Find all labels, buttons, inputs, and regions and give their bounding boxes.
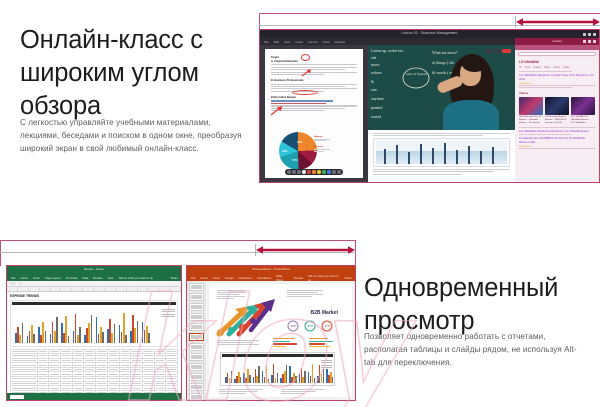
annotation-arrow-2: [270, 106, 283, 117]
chart-bar: [323, 369, 325, 383]
slide-hbar-group-left: [273, 338, 297, 349]
chart-bar: [258, 366, 260, 383]
maximize-icon[interactable]: [588, 33, 591, 36]
excel-sheet-tab[interactable]: [10, 395, 24, 399]
chalk-text: echoes: [371, 70, 382, 75]
close-icon[interactable]: [593, 33, 596, 36]
top-rule-vertical: [259, 13, 260, 29]
chart-bar: [137, 321, 139, 343]
legend-label-revenue: Revenue: [314, 146, 330, 148]
bottom-width-arrow: [256, 244, 355, 256]
page-body-bottom: Позволяет одновременно работать с отчета…: [364, 330, 579, 369]
slide-thumbnail-preview: [191, 325, 202, 329]
minimize-icon[interactable]: [583, 40, 586, 43]
document-heading-business: B. Business Professionals: [271, 79, 357, 82]
ppt-slide-canvas[interactable]: B2B Market 38% 45% 27%: [209, 284, 352, 397]
ppt-ribbon[interactable]: File Home Insert Design Transitions Anim…: [187, 274, 355, 281]
chart-bar: [148, 333, 150, 343]
result-line: [519, 85, 595, 86]
chalk-text-question: What are news?: [432, 50, 458, 55]
videos-section-label: Videos: [519, 91, 595, 95]
chart-bar: [277, 373, 279, 383]
legend-label-balance: Balance: [314, 136, 330, 138]
chart-header-strip: [222, 354, 333, 357]
ribbon-tab-animations[interactable]: Animations: [257, 276, 271, 280]
chart-bar: [45, 331, 47, 343]
ppt-workspace: B2B Market 38% 45% 27%: [187, 281, 355, 400]
chart-bar: [332, 377, 334, 383]
search-heading: LG UltraWide: [519, 60, 595, 64]
report-pane[interactable]: [368, 130, 515, 182]
column-header[interactable]: [148, 287, 159, 291]
result-line: [519, 87, 572, 88]
search-filters[interactable]: All Shop Images News Videos Maps: [519, 66, 595, 69]
document-pie-chart: 24% 23% 57% Balance Revenue: [271, 132, 329, 172]
annotation-circle-1: [301, 54, 310, 61]
doc-hyperlink-highlight[interactable]: [271, 103, 326, 104]
camera-icon[interactable]: [494, 49, 500, 53]
slide-thumbnail[interactable]: [189, 373, 204, 381]
color-swatch-red[interactable]: [307, 170, 310, 173]
report-chart-card: [373, 138, 510, 167]
chalk-text: more,: [371, 62, 380, 67]
filter-news[interactable]: News: [544, 66, 550, 69]
arrow-dot-orange: [217, 329, 224, 336]
bottom-rule-vertical-left: [0, 240, 1, 266]
browser-pane[interactable]: monitor LG UltraWide All Shop Images New…: [515, 38, 599, 182]
screenshot-excel[interactable]: Book1 – Excel File Home Insert Page Layo…: [6, 265, 182, 401]
result-line: [519, 127, 595, 128]
minimize-icon[interactable]: [583, 33, 586, 36]
chart-bar: [114, 324, 116, 342]
chart-bar: [304, 371, 306, 383]
chalk-circle-label: parts of Speech: [406, 72, 428, 76]
chalk-text: &: [371, 79, 374, 84]
annotation-circle-2: [292, 90, 318, 95]
slide-thumbnail-preview: [191, 315, 202, 319]
video-pane[interactable]: Listen up, woke-ers: ads more, echoes & …: [368, 45, 515, 130]
ppt-titlebar: Presentation1 – PowerPoint: [187, 266, 355, 274]
report-line: [373, 135, 483, 136]
doc-line: [271, 84, 357, 85]
screenshot-powerpoint[interactable]: Presentation1 – PowerPoint File Home Ins…: [186, 265, 356, 401]
slide-footer-right: [281, 389, 325, 395]
color-swatch-blue[interactable]: [327, 170, 330, 173]
page-title-bottom: Одновременный просмотр: [364, 272, 594, 338]
color-swatch-yellow[interactable]: [317, 170, 320, 173]
filter-images[interactable]: Images: [533, 66, 541, 69]
ppt-share-button[interactable]: Share: [345, 276, 352, 280]
chart-bar: [249, 375, 251, 383]
report-line: [373, 174, 462, 175]
excel-share-button[interactable]: Share: [171, 276, 178, 280]
top-rule-horizontal: [259, 13, 600, 14]
filter-maps[interactable]: Maps: [563, 66, 569, 69]
product-card[interactable]: The 34WN80C-B UltraWide Monitor – 21:9 U…: [571, 97, 595, 125]
bottom-rule-horizontal: [0, 240, 356, 241]
column-header[interactable]: [127, 287, 138, 291]
top-menubar[interactable]: File Edit View Insert Format Tools Windo…: [260, 38, 515, 45]
chalk-text: anytime: [371, 96, 384, 101]
ribbon-tab-transitions[interactable]: Transitions: [239, 276, 253, 280]
product-thumbnail[interactable]: [545, 97, 569, 115]
ribbon-tab-view[interactable]: View: [107, 276, 113, 280]
slide-thumbnail[interactable]: [189, 323, 204, 331]
slide-thumbnail[interactable]: [189, 303, 204, 311]
column-header[interactable]: [51, 287, 62, 291]
slide-text-block: [287, 290, 323, 298]
product-caption: The 34WN80C-B UltraWide Monitor – 21:9 U…: [571, 116, 595, 125]
ribbon-tab-design[interactable]: Design: [225, 276, 234, 280]
kpi-value-1: 38%: [289, 324, 298, 328]
document-heading-target: Target: [271, 56, 357, 59]
slide-thumbnail-preview: [191, 375, 202, 379]
tool-icon[interactable]: [297, 170, 300, 173]
slide-title: B2B Market: [310, 310, 338, 316]
report-line: [373, 133, 510, 134]
window-controls[interactable]: [583, 33, 596, 36]
chalk-text-a: a) things ( ids: [432, 60, 454, 65]
chart-bar: [68, 336, 70, 342]
name-box[interactable]: [10, 282, 16, 285]
promo-page: Онлайн-класс с широким углом обзора С ле…: [0, 0, 600, 407]
excel-titlebar: Book1 – Excel: [7, 266, 181, 274]
chart-legend: Balance Revenue: [314, 136, 330, 157]
doc-line: [271, 86, 345, 87]
ribbon-tab-data[interactable]: Data: [82, 276, 88, 280]
report-line: [373, 169, 510, 170]
filter-shop[interactable]: Shop: [525, 66, 531, 69]
product-thumbnail[interactable]: [571, 97, 595, 115]
column-header[interactable]: [7, 287, 18, 291]
bottom-rule-vertical-right: [355, 240, 356, 266]
pie-label-24: 24%: [297, 141, 302, 144]
ribbon-tab-review[interactable]: Review: [294, 276, 303, 280]
teacher-hair: [462, 56, 487, 72]
tool-icon[interactable]: [332, 170, 335, 173]
chart-bar: [231, 371, 233, 383]
browser-window-controls[interactable]: [583, 40, 596, 43]
color-swatch-orange[interactable]: [312, 170, 315, 173]
chart-bar: [22, 323, 24, 342]
ribbon-tab-insert[interactable]: Insert: [33, 276, 40, 280]
tool-icon[interactable]: [337, 170, 340, 173]
browser-address-bar[interactable]: [515, 50, 599, 57]
slide-thumbnail-preview: [191, 295, 202, 299]
chalk-text: printed: [371, 105, 382, 110]
slide-thumbnail[interactable]: [189, 313, 204, 321]
chalk-text: rate: [371, 87, 377, 92]
doc-hyperlink[interactable]: [271, 100, 333, 101]
end-call-button[interactable]: [502, 49, 511, 53]
column-header[interactable]: [18, 287, 29, 291]
color-swatch-white[interactable]: [302, 170, 305, 173]
chart-bar: [102, 332, 104, 342]
result-line: [519, 148, 595, 149]
ppt-slide-thumbnails[interactable]: [187, 281, 206, 400]
browser-content: LG UltraWide All Shop Images News Videos…: [515, 57, 599, 153]
document-color-toolbar[interactable]: [285, 169, 343, 175]
excel-expense-chart[interactable]: [10, 300, 178, 347]
menu-item-window[interactable]: Window: [335, 40, 346, 44]
chart-bar: [314, 378, 316, 383]
doc-line: [271, 105, 357, 106]
result-line: [519, 134, 572, 135]
ribbon-tab-home[interactable]: Home: [201, 276, 208, 280]
chart-legend: [162, 309, 175, 319]
product-caption: LG Ultrawide Monitor Review – 34WL500-B …: [545, 116, 569, 125]
chalk-circle: [402, 67, 430, 89]
top-window-titlebar: Lesson 01 · Business Management: [260, 30, 599, 38]
arrow-dot-teal: [228, 327, 235, 334]
ribbon-tab-review[interactable]: Review: [93, 276, 102, 280]
ribbon-tab-home[interactable]: Home: [21, 276, 28, 280]
doc-line: [271, 64, 357, 65]
ppt-embedded-chart[interactable]: [220, 352, 335, 386]
slide-thumbnail[interactable]: [189, 363, 204, 371]
chalk-text: ads: [371, 55, 376, 60]
search-input[interactable]: [518, 52, 596, 56]
document-heading-financial: A. Financial Elements: [271, 60, 357, 63]
column-header[interactable]: [105, 287, 116, 291]
slide-thumbnail-preview: [191, 395, 202, 399]
page-body-top: С легкостью управляйте учебными материал…: [20, 116, 248, 155]
excel-status-bar: [7, 393, 181, 400]
footer-result-1[interactable]: LG UltraWide Business Monitors | LG USA …: [519, 129, 595, 133]
slide-thumbnail[interactable]: [189, 283, 204, 291]
slide-thumbnail[interactable]: [189, 293, 204, 301]
legend-row: Balance: [314, 136, 330, 141]
chart-bar: [91, 315, 93, 342]
ribbon-tab-file[interactable]: File: [191, 276, 196, 280]
filter-videos[interactable]: Videos: [553, 66, 560, 69]
video-controls[interactable]: [486, 49, 511, 53]
arrow-dot-red: [239, 324, 246, 331]
doc-line: [271, 72, 357, 73]
chart-bar: [295, 376, 297, 383]
product-card[interactable]: LG Ultrawide Monitor Review – 34WL500-B …: [545, 97, 569, 125]
excel-sheet-heading: EXPENSE TRENDS: [10, 294, 178, 298]
menu-item-format[interactable]: Format: [308, 40, 318, 44]
document-heading-policy: Policy Index Review: [271, 96, 357, 99]
chart-bar: [56, 317, 58, 343]
excel-sheet[interactable]: EXPENSE TRENDS: [7, 292, 181, 393]
slide-thumbnail-preview: [191, 355, 202, 359]
excel-window-title: Book1 – Excel: [84, 267, 103, 271]
slide-thumbnail-preview: [191, 285, 202, 289]
column-header[interactable]: [116, 287, 127, 291]
menu-item-insert[interactable]: Insert: [295, 40, 303, 44]
pie-label-23: 23%: [282, 150, 287, 153]
kpi-value-3: 27%: [323, 324, 332, 328]
slide-thumbnail[interactable]: [189, 393, 204, 400]
teacher-body: [443, 100, 499, 130]
slide-thumbnail[interactable]: [189, 343, 204, 351]
footer-result-2[interactable]: LG Electronics 34UM88-P 34-Inch 21:9 Ult…: [519, 136, 595, 144]
maximize-icon[interactable]: [588, 40, 591, 43]
chart-bar: [79, 327, 81, 343]
column-header[interactable]: [61, 287, 72, 291]
arrow-dot-purple: [250, 318, 256, 324]
ribbon-tab-page-layout[interactable]: Page Layout: [45, 276, 61, 280]
slide-thumbnail[interactable]: [189, 353, 204, 361]
chart-bar: [33, 334, 35, 343]
ribbon-tab-insert[interactable]: Insert: [213, 276, 220, 280]
chart-bar: [125, 335, 127, 343]
top-width-arrow: [516, 16, 600, 28]
slide-thumbnail-preview: [191, 365, 202, 369]
chart-bar: [240, 377, 242, 383]
ribbon-tell-me[interactable]: Tell me what you want to do: [118, 276, 153, 280]
slide-hbar-group-right: [309, 338, 333, 349]
excel-data-table[interactable]: [10, 349, 178, 394]
search-result-title[interactable]: LG UltraWide Monitors: Crystal Clear 21:…: [519, 73, 595, 81]
color-swatch-green[interactable]: [322, 170, 325, 173]
product-caption: UltraWide with LG's 34 Monitor – Ultrawi…: [519, 116, 543, 125]
product-thumbnail[interactable]: [519, 97, 543, 115]
page-title-top: Онлайн-класс с широким углом обзора: [20, 24, 245, 123]
top-window-title: Lesson 01 · Business Management: [401, 31, 457, 35]
menu-item-tools[interactable]: Tools: [323, 40, 330, 44]
mute-icon[interactable]: [486, 49, 492, 53]
menu-item-edit[interactable]: Edit: [274, 40, 279, 44]
product-card[interactable]: UltraWide with LG's 34 Monitor – Ultrawi…: [519, 97, 543, 125]
tool-icon[interactable]: [292, 170, 295, 173]
document-pane[interactable]: Target A. Financial Elements B. Business…: [260, 45, 368, 182]
ribbon-tab-formulas[interactable]: Formulas: [66, 276, 78, 280]
document-page: Target A. Financial Elements B. Business…: [265, 49, 363, 178]
close-icon[interactable]: [593, 40, 596, 43]
slide-thumbnail[interactable]: [189, 333, 204, 341]
chalk-text: routed: [371, 114, 381, 119]
slide-thumbnail-preview: [191, 305, 202, 309]
slide-text-block: [217, 340, 259, 346]
menu-item-file[interactable]: File: [264, 40, 269, 44]
slide-thumbnail-preview: [191, 335, 202, 339]
slide-thumbnail[interactable]: [189, 383, 204, 391]
annotation-arrow-1: [301, 69, 312, 78]
slide-footer-left: [219, 389, 263, 395]
slide-thumbnail-preview: [191, 385, 202, 389]
column-header[interactable]: [170, 287, 181, 291]
column-header[interactable]: [72, 287, 83, 291]
menu-item-view[interactable]: View: [284, 40, 290, 44]
chart-bar: [286, 365, 288, 383]
column-header[interactable]: [159, 287, 170, 291]
legend-row: Revenue: [314, 146, 330, 151]
column-header[interactable]: [29, 287, 40, 291]
ppt-window-title: Presentation1 – PowerPoint: [252, 267, 289, 271]
fx-icon[interactable]: [19, 282, 22, 285]
slide-thumbnail-preview: [191, 345, 202, 349]
pie-label-57: 57%: [292, 159, 297, 162]
chalk-text: Listen up, woke-ers:: [371, 48, 404, 53]
filter-all[interactable]: All: [519, 66, 522, 69]
doc-line: [271, 74, 324, 75]
growth-arrows-graphic: [215, 296, 277, 338]
chart-legend: [321, 360, 332, 369]
column-header[interactable]: [40, 287, 51, 291]
tool-icon[interactable]: [287, 170, 290, 173]
kpi-value-2: 45%: [306, 324, 315, 328]
product-grid: UltraWide with LG's 34 Monitor – Ultrawi…: [519, 97, 595, 125]
doc-line: [271, 67, 357, 68]
excel-ribbon[interactable]: File Home Insert Page Layout Formulas Da…: [7, 274, 181, 281]
column-header[interactable]: [94, 287, 105, 291]
chart-bar: [268, 379, 270, 383]
doc-line: [271, 88, 357, 89]
ribbon-tab-file[interactable]: File: [11, 276, 16, 280]
browser-window-title: monitor: [552, 39, 562, 43]
result-line: [519, 71, 572, 72]
column-header[interactable]: [138, 287, 149, 291]
report-chart: [376, 141, 507, 164]
report-line: [373, 171, 494, 172]
column-header[interactable]: [83, 287, 94, 291]
screenshot-online-class[interactable]: Lesson 01 · Business Management File Edi…: [259, 29, 600, 183]
browser-titlebar: monitor: [515, 38, 599, 45]
chart-header-strip: [12, 302, 176, 305]
